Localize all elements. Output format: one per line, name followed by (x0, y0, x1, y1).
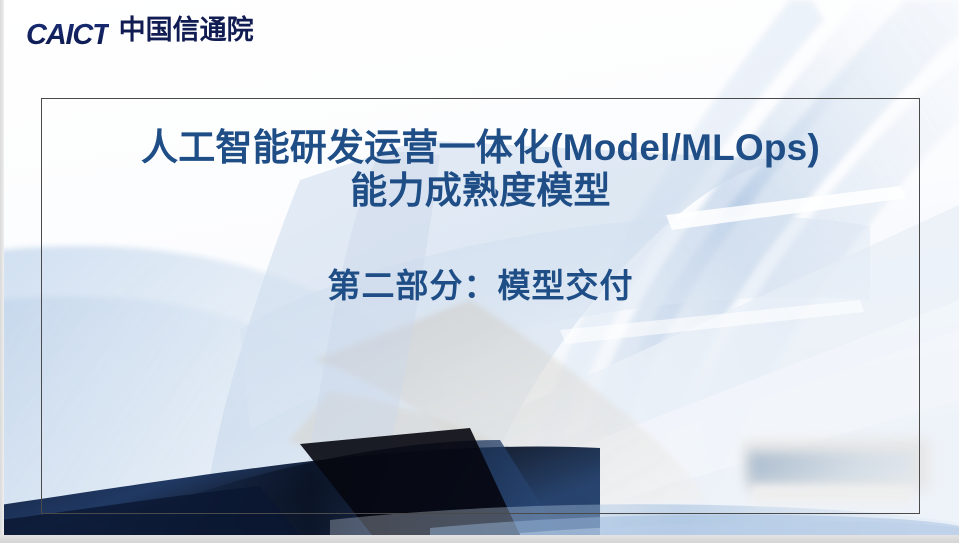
caict-wordmark-text: CAICT (26, 19, 109, 51)
caict-logo: CAICT 中国信通院 (26, 17, 254, 50)
page-left-edge (0, 0, 4, 543)
slide-canvas: CAICT 中国信通院 人工智能研发运营一体化(Model/MLOps) 能力成… (0, 0, 959, 543)
caict-wordmark: CAICT (26, 21, 109, 50)
page-bottom-edge (0, 535, 959, 543)
caict-chinese-name: 中国信通院 (119, 17, 254, 50)
content-frame-border (41, 98, 920, 514)
